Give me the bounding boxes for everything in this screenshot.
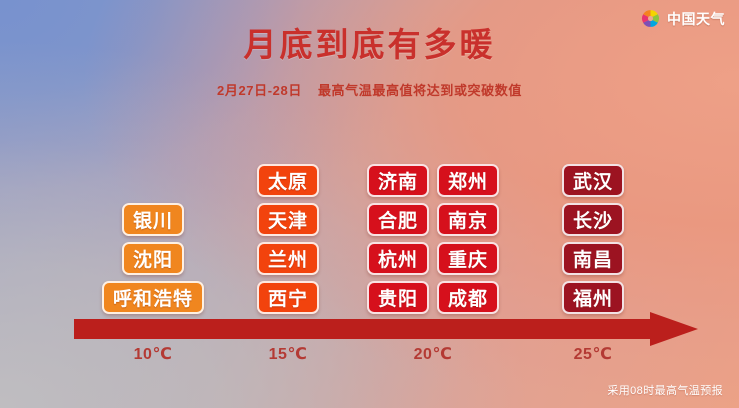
tag-row: 西宁 bbox=[257, 281, 319, 314]
city-tag[interactable]: 天津 bbox=[257, 203, 319, 236]
temperature-scale-labels: 10℃ 15℃ 20℃ 25℃ bbox=[78, 343, 668, 365]
city-tag[interactable]: 郑州 bbox=[437, 164, 499, 197]
tag-row: 太原 bbox=[257, 164, 319, 197]
tag-row: 杭州 重庆 bbox=[367, 242, 499, 275]
city-tag[interactable]: 兰州 bbox=[257, 242, 319, 275]
city-tag[interactable]: 银川 bbox=[122, 203, 184, 236]
column-20c: 济南 郑州 合肥 南京 杭州 重庆 贵阳 成都 bbox=[348, 164, 518, 314]
city-columns: 银川 沈阳 呼和浩特 太原 天津 兰州 bbox=[78, 138, 668, 314]
column-10c: 银川 沈阳 呼和浩特 bbox=[78, 203, 228, 314]
tag-row: 武汉 bbox=[562, 164, 624, 197]
temperature-axis-arrow bbox=[74, 312, 698, 346]
city-tag[interactable]: 西宁 bbox=[257, 281, 319, 314]
city-tag[interactable]: 重庆 bbox=[437, 242, 499, 275]
temp-label-20c: 20℃ bbox=[348, 344, 518, 364]
temp-label-25c: 25℃ bbox=[518, 344, 668, 364]
city-tag[interactable]: 南昌 bbox=[562, 242, 624, 275]
city-tag[interactable]: 太原 bbox=[257, 164, 319, 197]
tag-row: 沈阳 bbox=[122, 242, 184, 275]
city-tag[interactable]: 贵阳 bbox=[367, 281, 429, 314]
city-tag[interactable]: 合肥 bbox=[367, 203, 429, 236]
temp-label-10c: 10℃ bbox=[78, 344, 228, 364]
tag-row: 长沙 bbox=[562, 203, 624, 236]
city-tag[interactable]: 济南 bbox=[367, 164, 429, 197]
tag-row: 福州 bbox=[562, 281, 624, 314]
column-25c: 武汉 长沙 南昌 福州 bbox=[518, 164, 668, 314]
tag-row: 南昌 bbox=[562, 242, 624, 275]
column-15c: 太原 天津 兰州 西宁 bbox=[228, 164, 348, 314]
tag-row: 天津 bbox=[257, 203, 319, 236]
tag-row: 呼和浩特 bbox=[102, 281, 204, 314]
city-tag[interactable]: 武汉 bbox=[562, 164, 624, 197]
column-15c-rows: 太原 天津 兰州 西宁 bbox=[257, 164, 319, 314]
city-tag[interactable]: 沈阳 bbox=[122, 242, 184, 275]
city-tag[interactable]: 成都 bbox=[437, 281, 499, 314]
column-20c-rows: 济南 郑州 合肥 南京 杭州 重庆 贵阳 成都 bbox=[367, 164, 499, 314]
tag-row: 贵阳 成都 bbox=[367, 281, 499, 314]
city-tag[interactable]: 呼和浩特 bbox=[102, 281, 204, 314]
tag-row: 兰州 bbox=[257, 242, 319, 275]
subtitle-date: 2月27日-28日 bbox=[217, 83, 302, 98]
tag-row: 济南 郑州 bbox=[367, 164, 499, 197]
subtitle-text: 最高气温最高值将达到或突破数值 bbox=[318, 83, 522, 98]
weather-infographic-poster: 中国天气 月底到底有多暖 2月27日-28日最高气温最高值将达到或突破数值 银川… bbox=[0, 0, 739, 408]
city-tag[interactable]: 南京 bbox=[437, 203, 499, 236]
tag-row: 合肥 南京 bbox=[367, 203, 499, 236]
page-subtitle: 2月27日-28日最高气温最高值将达到或突破数值 bbox=[0, 80, 739, 99]
tag-row: 银川 bbox=[122, 203, 184, 236]
column-25c-rows: 武汉 长沙 南昌 福州 bbox=[562, 164, 624, 314]
city-tag[interactable]: 福州 bbox=[562, 281, 624, 314]
city-tag[interactable]: 杭州 bbox=[367, 242, 429, 275]
city-tag[interactable]: 长沙 bbox=[562, 203, 624, 236]
column-10c-rows: 银川 沈阳 呼和浩特 bbox=[102, 203, 204, 314]
footnote-text: 采用08时最高气温预报 bbox=[607, 382, 723, 398]
temp-label-15c: 15℃ bbox=[228, 344, 348, 364]
page-title: 月底到底有多暖 bbox=[0, 18, 739, 66]
